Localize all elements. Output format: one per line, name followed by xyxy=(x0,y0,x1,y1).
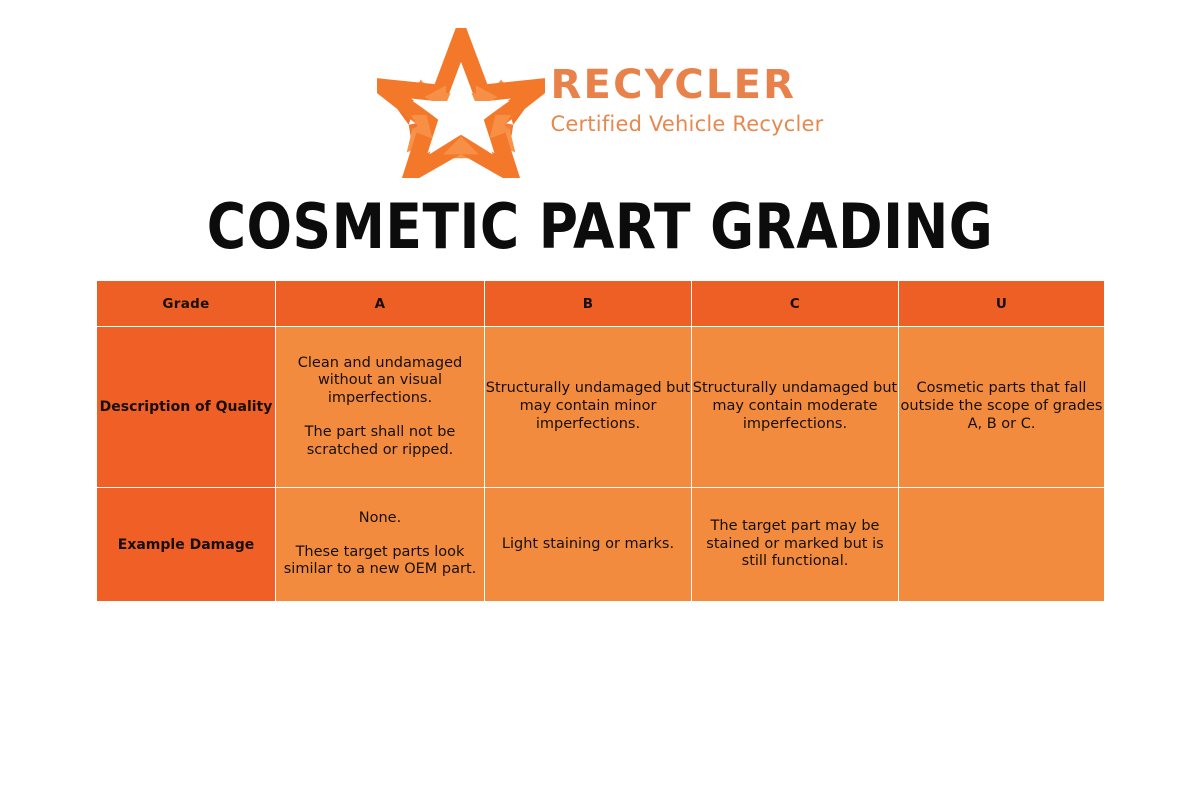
cell-paragraph: The target part may be stained or marked… xyxy=(692,518,898,571)
column-header-grade: Grade xyxy=(97,281,276,327)
cell-paragraph: None. xyxy=(276,510,484,528)
cell-paragraph: Clean and undamaged without an visual im… xyxy=(276,355,484,408)
row-label-example-damage: Example Damage xyxy=(97,488,276,602)
cell-paragraph: Structurally undamaged but may contain m… xyxy=(692,380,898,433)
column-header-u: U xyxy=(899,281,1105,327)
cell-paragraph: Light staining or marks. xyxy=(485,536,691,554)
recycler-star-logo-icon xyxy=(377,28,545,178)
cell-paragraph: Structurally undamaged but may contain m… xyxy=(485,380,691,433)
cell-paragraph: The part shall not be scratched or rippe… xyxy=(276,424,484,459)
cell-damage-u xyxy=(899,488,1105,602)
cell-damage-a: None.These target parts look similar to … xyxy=(276,488,485,602)
cell-description-b: Structurally undamaged but may contain m… xyxy=(485,327,692,488)
cell-description-a: Clean and undamaged without an visual im… xyxy=(276,327,485,488)
cell-description-c: Structurally undamaged but may contain m… xyxy=(692,327,899,488)
cell-paragraph: These target parts look similar to a new… xyxy=(276,544,484,579)
logo-wordmark: RECYCLER Certified Vehicle Recycler xyxy=(551,65,824,141)
logo-subtitle: Certified Vehicle Recycler xyxy=(551,114,824,135)
page-title: COSMETIC PART GRADING xyxy=(24,196,1176,258)
logo-inner: RECYCLER Certified Vehicle Recycler xyxy=(377,28,824,178)
column-header-a: A xyxy=(276,281,485,327)
cell-damage-c: The target part may be stained or marked… xyxy=(692,488,899,602)
cell-damage-b: Light staining or marks. xyxy=(485,488,692,602)
logo-title: RECYCLER xyxy=(551,65,824,105)
document-page: RECYCLER Certified Vehicle Recycler COSM… xyxy=(0,0,1200,800)
table-row: Example Damage None.These target parts l… xyxy=(97,488,1105,602)
cosmetic-part-grading-table: Grade A B C U Description of Quality Cle… xyxy=(96,280,1105,602)
cell-description-u: Cosmetic parts that fall outside the sco… xyxy=(899,327,1105,488)
table-header-row: Grade A B C U xyxy=(97,281,1105,327)
brand-logo: RECYCLER Certified Vehicle Recycler xyxy=(0,28,1200,178)
table-row: Description of Quality Clean and undamag… xyxy=(97,327,1105,488)
column-header-c: C xyxy=(692,281,899,327)
cell-paragraph: Cosmetic parts that fall outside the sco… xyxy=(899,380,1104,433)
row-label-description-of-quality: Description of Quality xyxy=(97,327,276,488)
column-header-b: B xyxy=(485,281,692,327)
